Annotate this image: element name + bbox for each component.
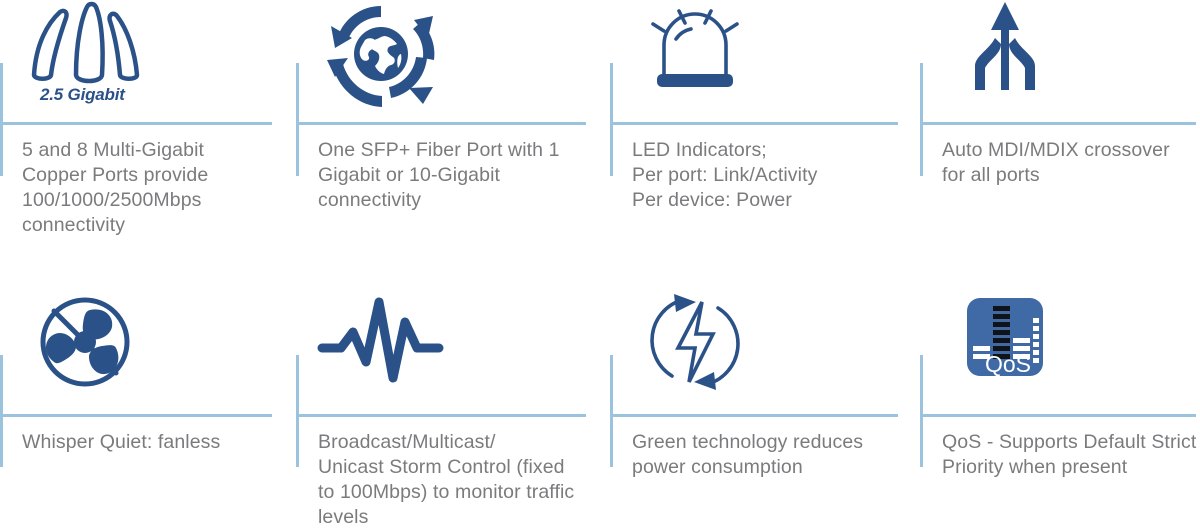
cell-horizontal-divider [920, 122, 1196, 125]
feature-caption: One SFP+ Fiber Port with 1 Gigabit or 10… [318, 138, 604, 213]
no-fan-icon [20, 282, 150, 402]
feature-caption: Auto MDI/MDIX crossover for all ports [942, 138, 1198, 188]
feature-cell-storm-control: Broadcast/Multicast/ Unicast Storm Contr… [296, 270, 610, 515]
feature-caption: QoS - Supports Default Strict Priority w… [942, 430, 1198, 480]
feature-caption: Broadcast/Multicast/ Unicast Storm Contr… [318, 430, 604, 530]
cell-vertical-divider [0, 63, 3, 176]
feature-caption: 5 and 8 Multi-Gigabit Copper Ports provi… [22, 138, 266, 238]
waveform-icon [316, 282, 446, 402]
feature-row-2: Whisper Quiet: fanless Broadcast/Multica… [0, 270, 1200, 515]
feature-cell-led-indicators: LED Indicators; Per port: Link/Activity … [610, 0, 920, 265]
feature-row-1: 2.5 Gigabit 5 and 8 Multi-Gigabit Copper… [0, 0, 1200, 265]
feature-caption: Whisper Quiet: fanless [22, 430, 266, 455]
cell-vertical-divider [610, 355, 613, 467]
cell-horizontal-divider [610, 122, 898, 125]
cell-vertical-divider [920, 63, 923, 176]
feature-caption: LED Indicators; Per port: Link/Activity … [632, 138, 914, 213]
cell-vertical-divider [610, 63, 613, 176]
feature-grid: 2.5 Gigabit 5 and 8 Multi-Gigabit Copper… [0, 0, 1200, 515]
feature-cell-multi-gigabit: 2.5 Gigabit 5 and 8 Multi-Gigabit Copper… [0, 0, 296, 265]
globe-arrows-icon [316, 0, 446, 114]
feature-cell-qos: QoS QoS - Supports Default Strict Priori… [920, 270, 1200, 515]
cell-vertical-divider [296, 63, 299, 176]
green-power-cycle-icon [630, 282, 760, 402]
qos-equalizer-icon: QoS [940, 282, 1070, 402]
cell-vertical-divider [296, 355, 299, 467]
cell-horizontal-divider [296, 414, 586, 417]
feature-cell-green-technology: Green technology reduces power consumpti… [610, 270, 920, 515]
cell-vertical-divider [920, 355, 923, 467]
feature-cell-fanless: Whisper Quiet: fanless [0, 270, 296, 515]
feature-caption: Green technology reduces power consumpti… [632, 430, 914, 480]
cell-vertical-divider [0, 355, 3, 467]
feature-cell-auto-mdix: Auto MDI/MDIX crossover for all ports [920, 0, 1200, 265]
cell-horizontal-divider [610, 414, 898, 417]
led-beacon-icon [630, 0, 760, 114]
multi-gigabit-icon: 2.5 Gigabit [20, 0, 150, 114]
qos-badge-label: QoS [985, 351, 1031, 377]
merge-arrow-icon [940, 0, 1070, 114]
cell-horizontal-divider [920, 414, 1196, 417]
cell-horizontal-divider [296, 122, 586, 125]
feature-cell-sfp-fiber: One SFP+ Fiber Port with 1 Gigabit or 10… [296, 0, 610, 265]
cell-horizontal-divider [0, 122, 272, 125]
multi-gigabit-badge-label: 2.5 Gigabit [39, 85, 126, 104]
cell-horizontal-divider [0, 414, 272, 417]
